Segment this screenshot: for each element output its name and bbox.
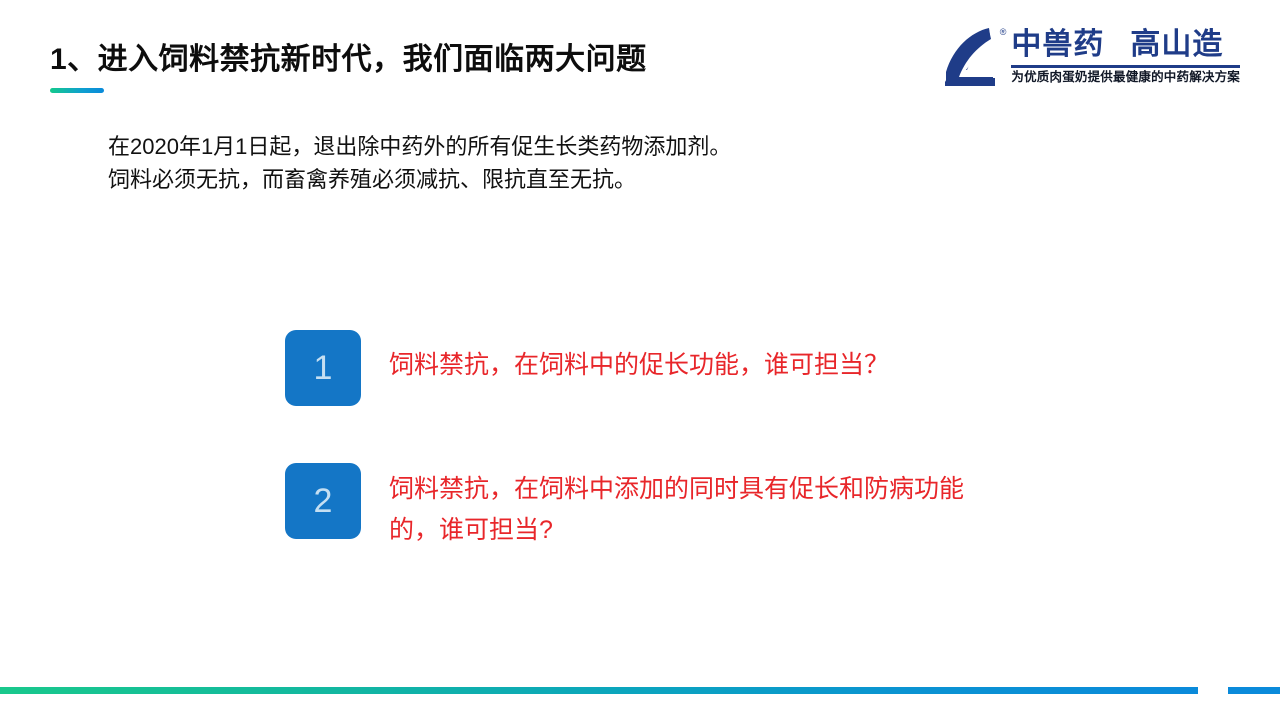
logo-wordmark: 中兽药 高山造 — [1011, 28, 1240, 62]
item-2-line-2: 的，谁可担当? — [389, 510, 964, 551]
logo-word-part1: 中兽药 — [1011, 28, 1104, 62]
item-number-badge-2: 2 — [285, 463, 361, 539]
title-block: 1、进入饲料禁抗新时代，我们面临两大问题 — [50, 40, 830, 93]
item-text-2: 饲料禁抗，在饲料中添加的同时具有促长和防病功能 的，谁可担当? — [389, 463, 964, 551]
logo-glyph-icon: ® — [943, 26, 999, 88]
list-item: 1 饲料禁抗，在饲料中的促长功能，谁可担当？ — [285, 330, 1185, 406]
item-2-line-1: 饲料禁抗，在饲料中添加的同时具有促长和防病功能 — [389, 469, 964, 510]
logo-text-block: 中兽药 高山造 为优质肉蛋奶提供最健康的中药解决方案 — [1011, 26, 1240, 85]
title-accent-bar — [50, 88, 104, 93]
footer-gradient-bar-tail — [1228, 687, 1280, 694]
footer-gradient-bar — [0, 687, 1198, 694]
item-number-badge-1: 1 — [285, 330, 361, 406]
body-paragraph: 在2020年1月1日起，退出除中药外的所有促生长类药物添加剂。 饲料必须无抗，而… — [108, 130, 731, 196]
question-list: 1 饲料禁抗，在饲料中的促长功能，谁可担当？ 2 饲料禁抗，在饲料中添加的同时具… — [285, 330, 1185, 551]
logo-tagline: 为优质肉蛋奶提供最健康的中药解决方案 — [1011, 70, 1240, 85]
body-line-1: 在2020年1月1日起，退出除中药外的所有促生长类药物添加剂。 — [108, 130, 731, 163]
list-item: 2 饲料禁抗，在饲料中添加的同时具有促长和防病功能 的，谁可担当? — [285, 463, 1185, 551]
item-1-line-1: 饲料禁抗，在饲料中的促长功能，谁可担当？ — [389, 345, 889, 386]
logo-word-part2: 高山造 — [1130, 28, 1223, 62]
page-title: 1、进入饲料禁抗新时代，我们面临两大问题 — [50, 40, 830, 80]
brand-logo: ® 中兽药 高山造 为优质肉蛋奶提供最健康的中药解决方案 — [943, 26, 1240, 88]
item-text-1: 饲料禁抗，在饲料中的促长功能，谁可担当？ — [389, 330, 889, 386]
logo-divider — [1011, 65, 1240, 68]
registered-trademark-icon: ® — [1000, 28, 1007, 37]
slide-canvas: 1、进入饲料禁抗新时代，我们面临两大问题 ® 中兽药 高山造 为优质肉蛋奶提供最… — [0, 0, 1280, 720]
body-line-2: 饲料必须无抗，而畜禽养殖必须减抗、限抗直至无抗。 — [108, 163, 731, 196]
